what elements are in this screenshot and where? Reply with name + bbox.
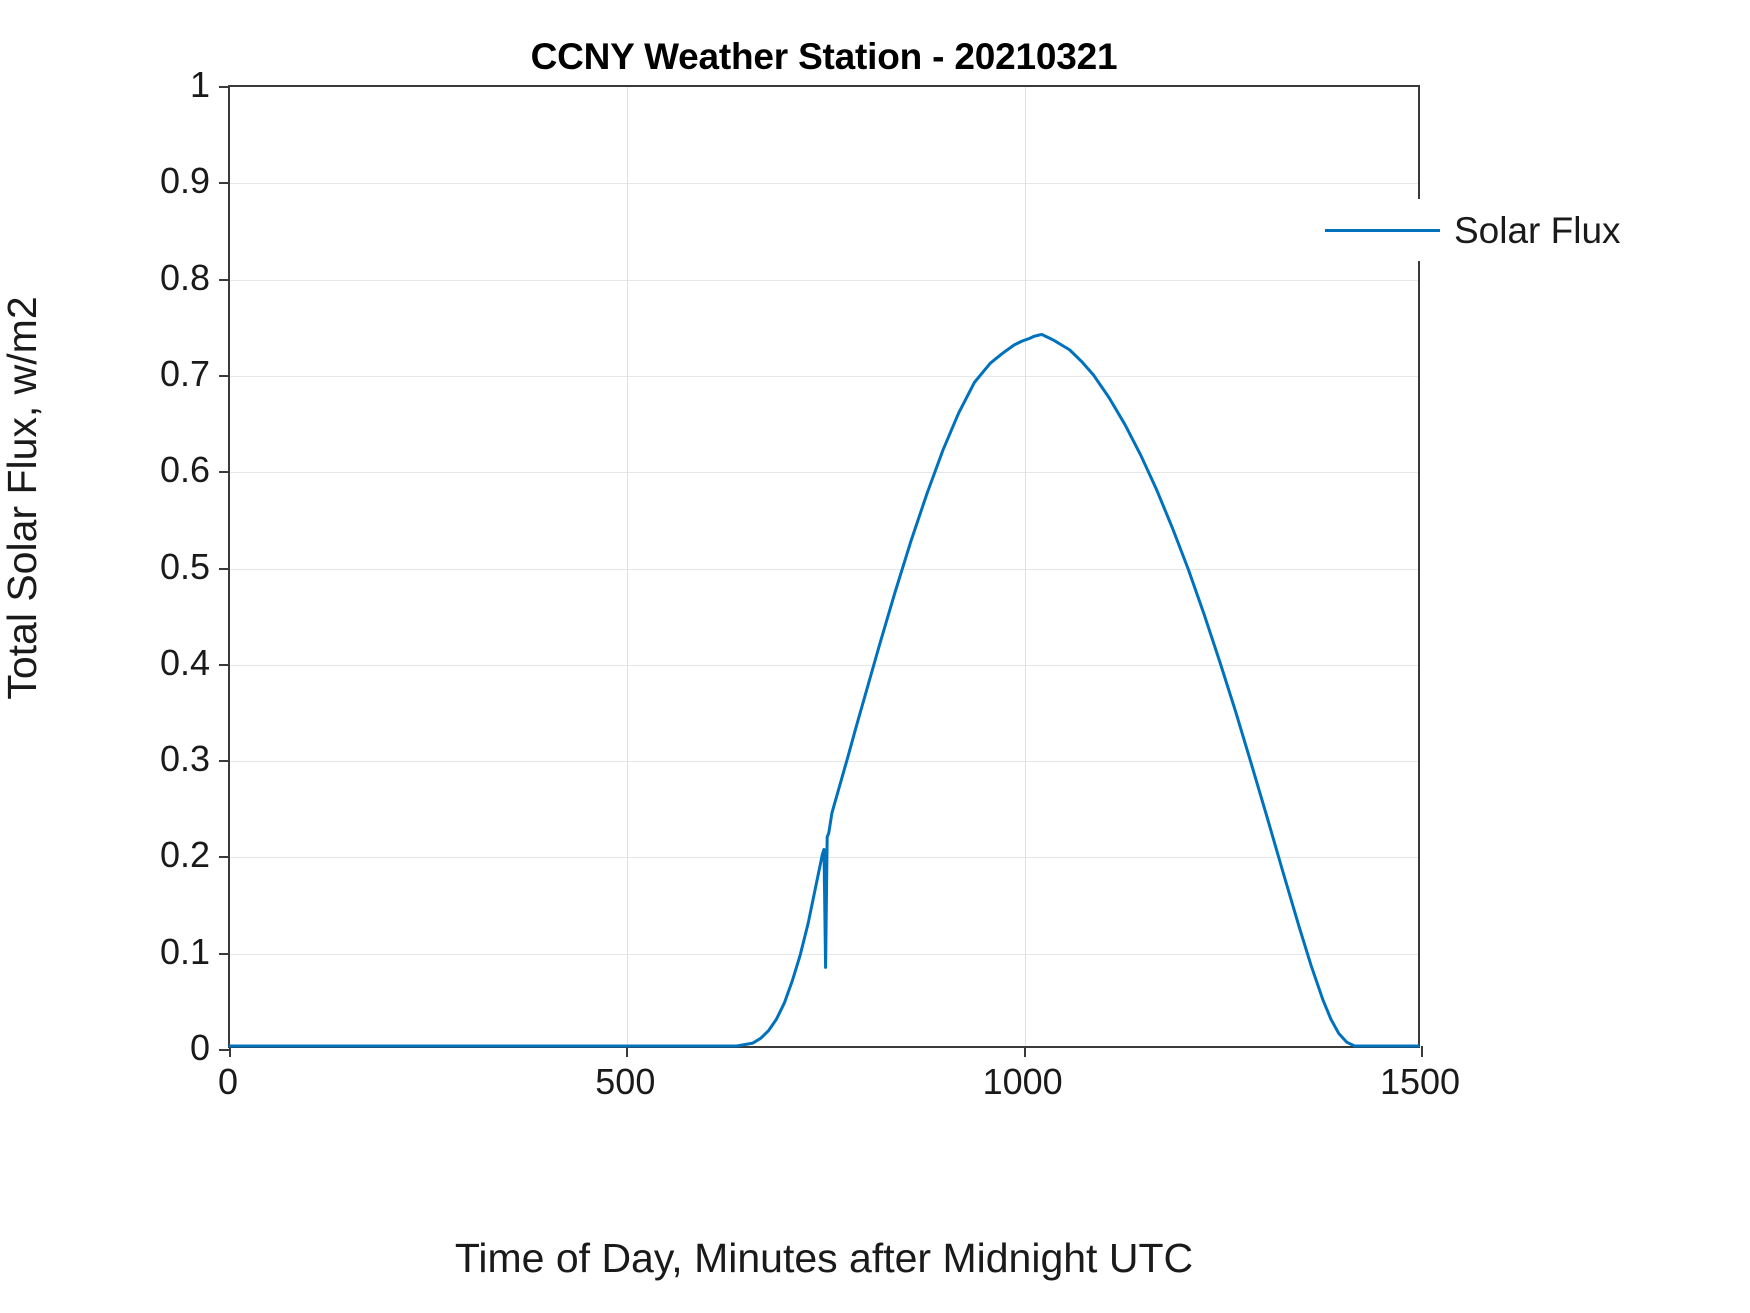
- y-axis-label: Total Solar Flux, w/m2: [2, 48, 43, 948]
- x-axis-tick-labels: 050010001500: [0, 1064, 1750, 1114]
- y-axis-tick-labels: 00.10.20.30.40.50.60.70.80.91: [106, 0, 210, 1313]
- x-tick-label: 1500: [1340, 1064, 1500, 1100]
- y-tickmark: [219, 471, 230, 473]
- x-tickmark: [1421, 1046, 1423, 1057]
- y-tick-label: 0.2: [110, 837, 210, 873]
- y-tick-label: 0.5: [110, 549, 210, 585]
- y-tick-label: 0.9: [110, 163, 210, 199]
- y-tick-label: 0: [110, 1030, 210, 1066]
- y-tick-label: 0.4: [110, 645, 210, 681]
- y-tickmark: [219, 856, 230, 858]
- legend-label-solar-flux: Solar Flux: [1454, 212, 1621, 249]
- y-tick-label: 0.6: [110, 452, 210, 488]
- y-tickmark: [219, 953, 230, 955]
- x-tickmark: [1024, 1046, 1026, 1057]
- legend-line-swatch-solar-flux: [1325, 229, 1440, 232]
- y-tickmark: [219, 182, 230, 184]
- y-tick-label: 0.7: [110, 356, 210, 392]
- y-tickmark: [219, 375, 230, 377]
- series-plot: [230, 87, 1418, 1046]
- y-tick-label: 0.3: [110, 741, 210, 777]
- y-tick-label: 0.8: [110, 260, 210, 296]
- x-axis-label: Time of Day, Minutes after Midnight UTC: [228, 1238, 1420, 1279]
- y-tickmark: [219, 86, 230, 88]
- x-tickmark: [626, 1046, 628, 1057]
- x-tickmark: [229, 1046, 231, 1057]
- y-tickmark: [219, 664, 230, 666]
- solar-flux-series-line: [230, 334, 1418, 1046]
- y-axis-label-wrapper: Total Solar Flux, w/m2: [2, 48, 62, 948]
- y-tick-label: 1: [110, 67, 210, 103]
- y-tick-label: 0.1: [110, 934, 210, 970]
- y-tickmark: [219, 568, 230, 570]
- x-tick-label: 500: [545, 1064, 705, 1100]
- y-tickmark: [219, 760, 230, 762]
- x-tick-label: 1000: [943, 1064, 1103, 1100]
- plot-area: Solar Flux: [228, 85, 1420, 1048]
- legend: Solar Flux: [1325, 199, 1635, 261]
- y-tickmark: [219, 279, 230, 281]
- x-tick-label: 0: [148, 1064, 308, 1100]
- page-title: CCNY Weather Station - 20210321: [228, 38, 1420, 77]
- figure-canvas: CCNY Weather Station - 20210321 Solar Fl…: [0, 0, 1750, 1313]
